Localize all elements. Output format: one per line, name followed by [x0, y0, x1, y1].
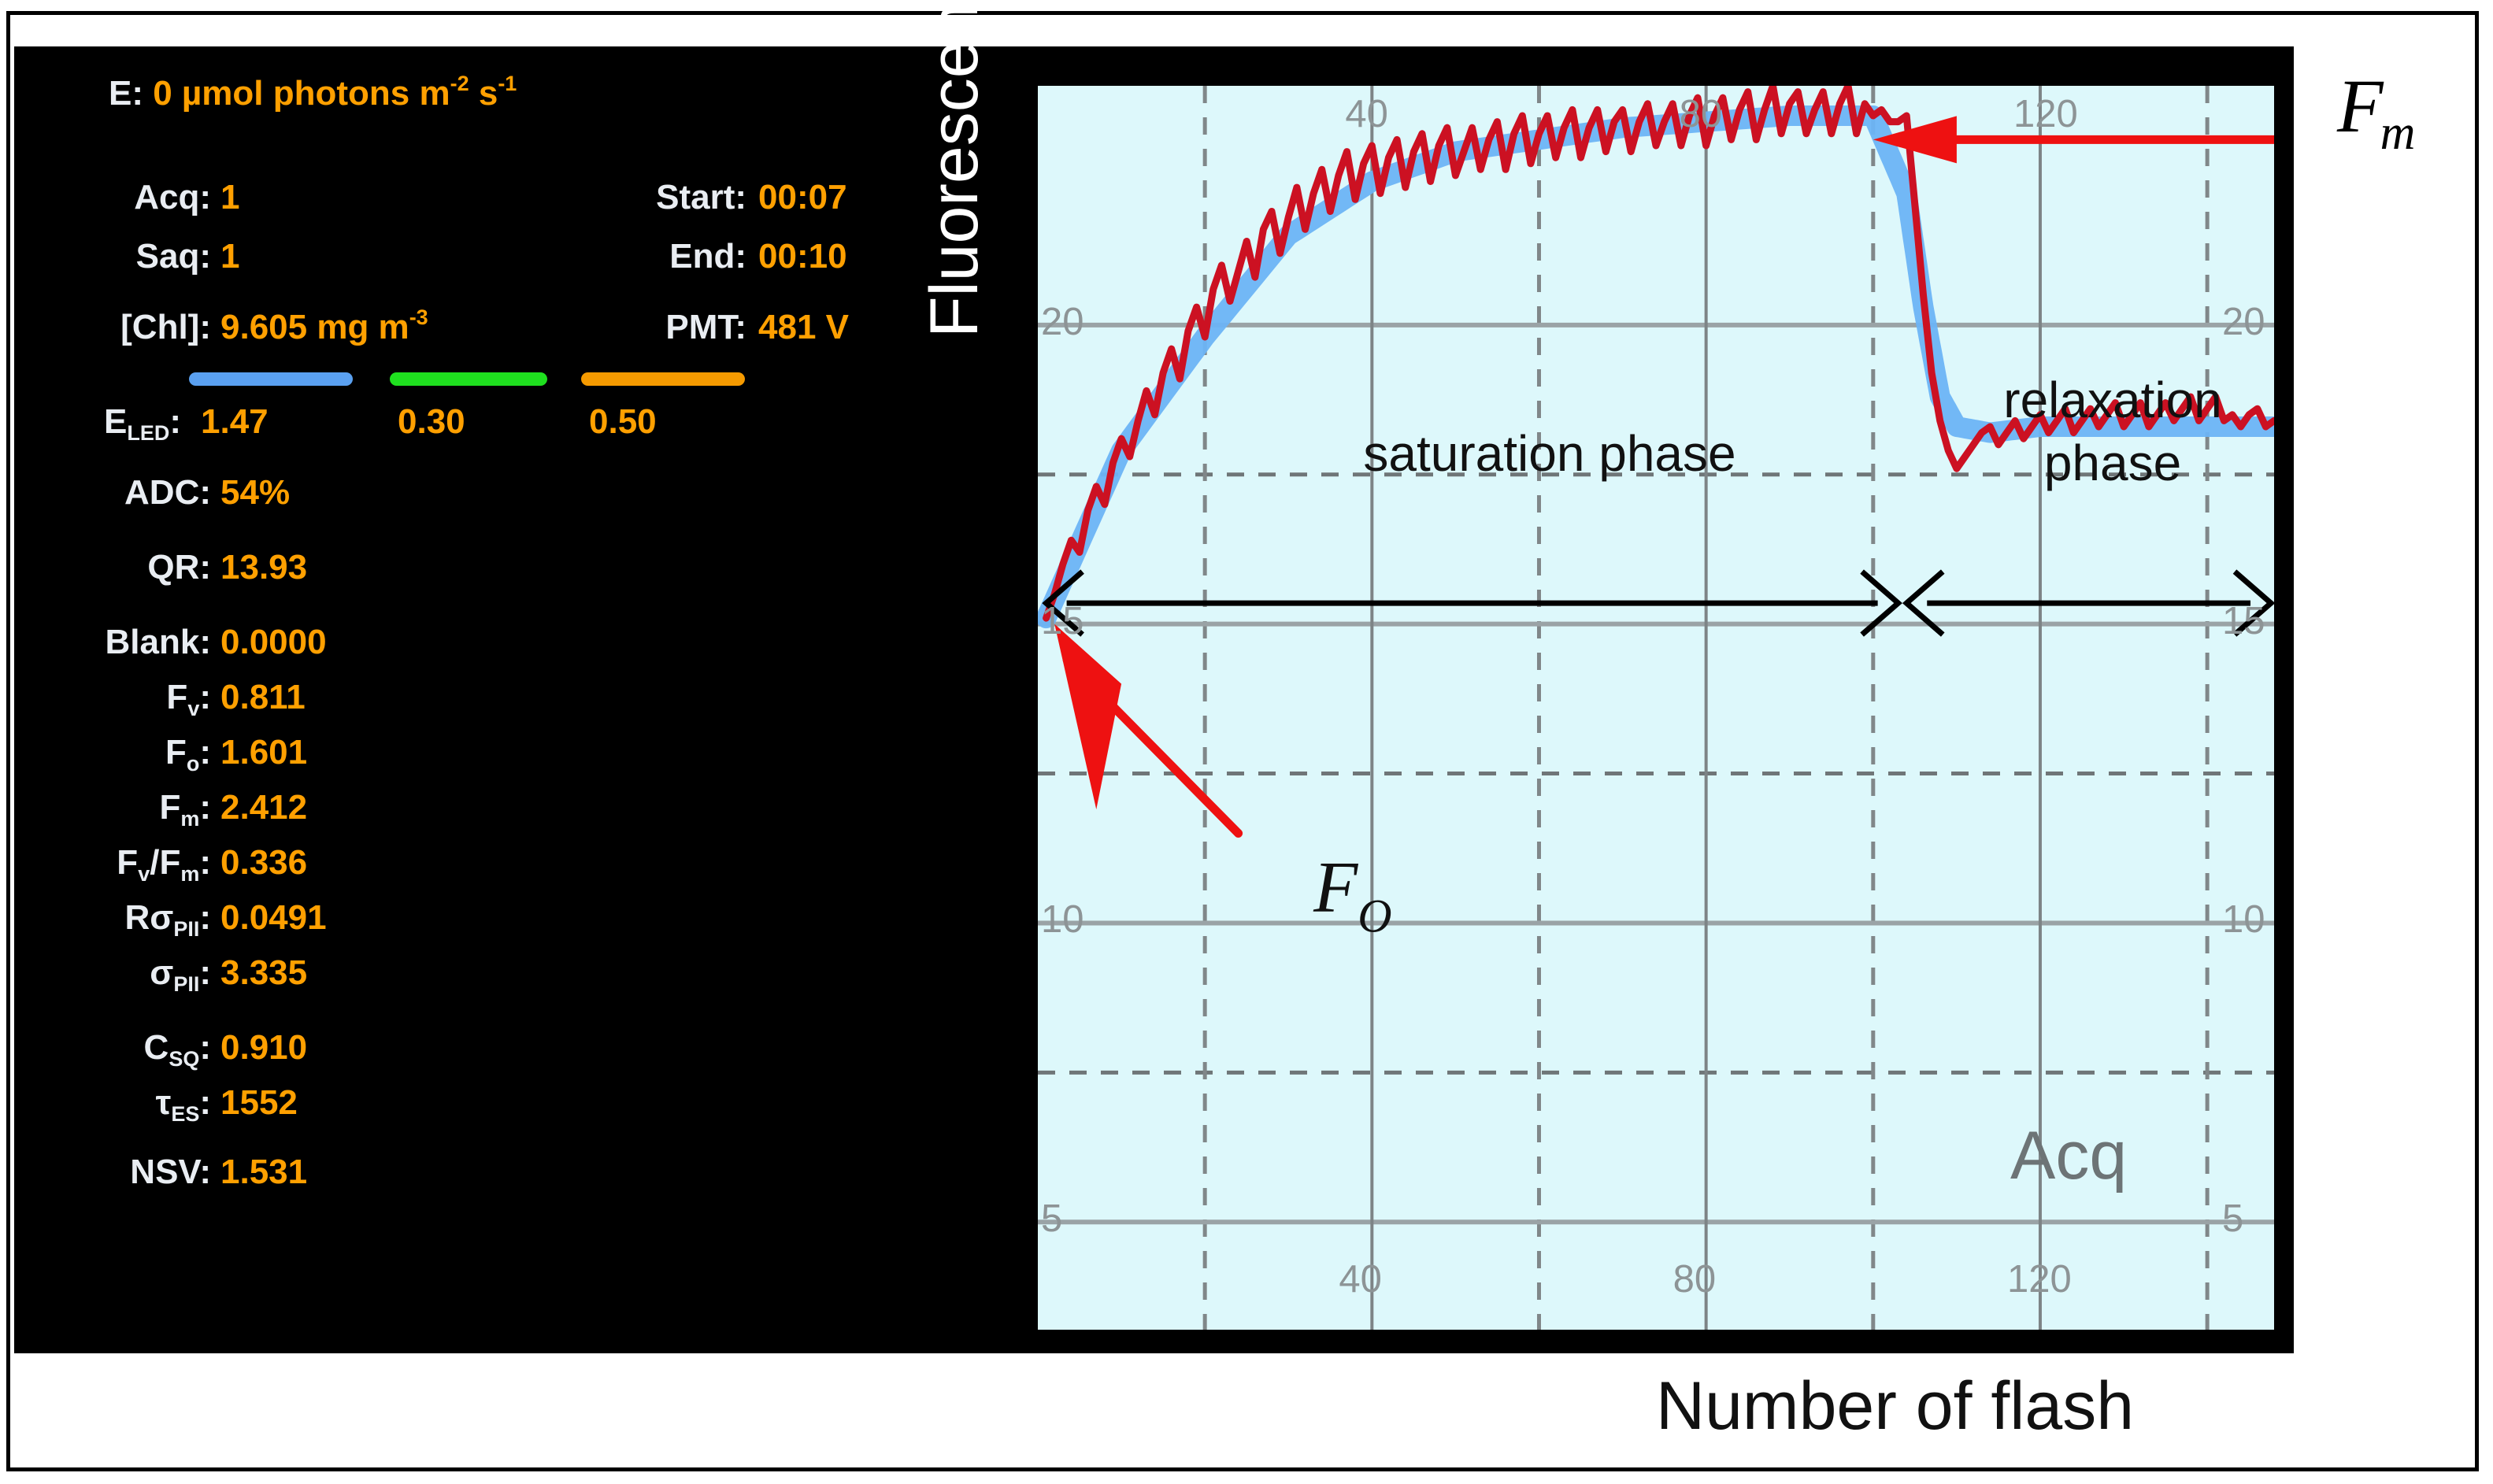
- led-bar-green: [390, 372, 547, 386]
- fo-subscript: o: [187, 752, 200, 775]
- irradiance-row: E: 0 µmol photons m-2 s-1: [109, 76, 517, 111]
- irradiance-label: E:: [109, 74, 143, 113]
- fm-annotation-label: Fm: [2337, 62, 2418, 150]
- fo-label: Fo:: [14, 735, 211, 770]
- y-tick-left-10: 10: [1041, 897, 1084, 942]
- x-tick-bottom-120: 120: [2007, 1257, 2072, 1301]
- sigma-pii-subscript: PII: [173, 972, 199, 996]
- instrument-panel: E: 0 µmol photons m-2 s-1 Acq: 1 Saq: 1 …: [14, 46, 2294, 1353]
- csq-value: 0.910: [220, 1031, 307, 1065]
- saturation-phase-label: saturation phase: [1298, 424, 1802, 483]
- irradiance-sup-2: -1: [498, 72, 517, 95]
- pmt-label: PMT:: [487, 310, 746, 345]
- tau-es-value: 1552: [220, 1086, 298, 1120]
- y-tick-right-5: 5: [2222, 1197, 2243, 1241]
- chl-unit-exponent: -3: [409, 305, 428, 329]
- fv-value: 0.811: [220, 680, 306, 715]
- sigma-pii-label: σPII:: [14, 956, 211, 990]
- qr-value: 13.93: [220, 550, 307, 585]
- x-tick-top-40: 40: [1345, 92, 1388, 136]
- fv-fm-value: 0.336: [220, 846, 307, 880]
- y-tick-left-5: 5: [1041, 1197, 1062, 1241]
- led-bar-orange: [581, 372, 745, 386]
- fm-subscript: m: [180, 807, 199, 831]
- eled-value-green: 0.30: [398, 405, 465, 439]
- relaxation-phase-label-line1: relaxation: [1943, 371, 2282, 429]
- y-tick-right-20: 20: [2222, 300, 2265, 344]
- y-axis-title: Fluorescence: [916, 0, 994, 338]
- start-label: Start:: [487, 180, 746, 215]
- fv-fm-subscript-1: v: [138, 862, 150, 886]
- fluorescence-chart: FO 20 15 10 5 20 15 10 5 40 80 120 40 80…: [1038, 86, 2274, 1330]
- x-axis-title: Acq: [2010, 1117, 2127, 1195]
- qr-label: QR:: [14, 550, 211, 585]
- fo-annotation-label: FO: [1313, 846, 1392, 942]
- pmt-value: 481 V: [758, 310, 849, 345]
- x-tick-top-120: 120: [2013, 92, 2078, 136]
- fv-label: Fv:: [14, 680, 211, 715]
- led-bar-blue: [189, 372, 353, 386]
- acq-value: 1: [220, 180, 239, 215]
- fm-annotation-letter: F: [2337, 64, 2384, 148]
- rsigma-pii-subscript: PII: [173, 917, 199, 941]
- fm-annotation-subscript: m: [2380, 106, 2416, 160]
- nsv-label: NSV:: [14, 1155, 211, 1190]
- chl-label: [Chl]:: [14, 310, 211, 345]
- readout-column: E: 0 µmol photons m-2 s-1 Acq: 1 Saq: 1 …: [14, 46, 865, 1353]
- start-value: 00:07: [758, 180, 847, 215]
- y-tick-right-10: 10: [2222, 897, 2265, 942]
- eled-subscript: LED: [127, 421, 169, 445]
- fv-subscript: v: [187, 697, 199, 720]
- figure-frame: E: 0 µmol photons m-2 s-1 Acq: 1 Saq: 1 …: [6, 11, 2479, 1471]
- adc-label: ADC:: [14, 476, 211, 510]
- acq-label: Acq:: [14, 180, 211, 215]
- figure-caption: Number of flash: [1656, 1367, 2134, 1445]
- blank-label: Blank:: [14, 625, 211, 660]
- y-tick-right-15: 15: [2222, 599, 2265, 643]
- rsigma-pii-value: 0.0491: [220, 901, 327, 935]
- eled-value-orange: 0.50: [589, 405, 657, 439]
- fm-label: Fm:: [14, 790, 211, 825]
- csq-subscript: SQ: [169, 1047, 199, 1071]
- tau-es-subscript: ES: [171, 1102, 199, 1126]
- fm-value: 2.412: [220, 790, 307, 825]
- adc-value: 54%: [220, 476, 290, 510]
- fv-fm-label: Fv/Fm:: [14, 846, 211, 880]
- y-tick-left-20: 20: [1041, 300, 1084, 344]
- tau-es-label: τES:: [14, 1086, 211, 1120]
- relaxation-phase-label-line2: phase: [1943, 434, 2282, 492]
- csq-label: CSQ:: [14, 1031, 211, 1065]
- saq-value: 1: [220, 239, 239, 274]
- x-tick-top-80: 80: [1680, 92, 1723, 136]
- end-value: 00:10: [758, 239, 847, 274]
- y-tick-left-15: 15: [1041, 599, 1084, 643]
- eled-label: ELED:: [14, 405, 181, 439]
- fo-value: 1.601: [220, 735, 307, 770]
- blank-value: 0.0000: [220, 625, 327, 660]
- irradiance-sup-1: -2: [450, 72, 469, 95]
- rsigma-pii-label: RσPII:: [14, 901, 211, 935]
- x-tick-bottom-80: 80: [1673, 1257, 1717, 1301]
- saq-label: Saq:: [14, 239, 211, 274]
- x-tick-bottom-40: 40: [1339, 1257, 1382, 1301]
- chl-value: 9.605 mg m-3: [220, 310, 428, 345]
- fv-fm-subscript-2: m: [180, 862, 199, 886]
- irradiance-mid: s: [469, 74, 498, 113]
- end-label: End:: [487, 239, 746, 274]
- eled-value-blue: 1.47: [201, 405, 269, 439]
- irradiance-value: 0 µmol photons m: [153, 74, 450, 113]
- nsv-value: 1.531: [220, 1155, 307, 1190]
- sigma-pii-value: 3.335: [220, 956, 307, 990]
